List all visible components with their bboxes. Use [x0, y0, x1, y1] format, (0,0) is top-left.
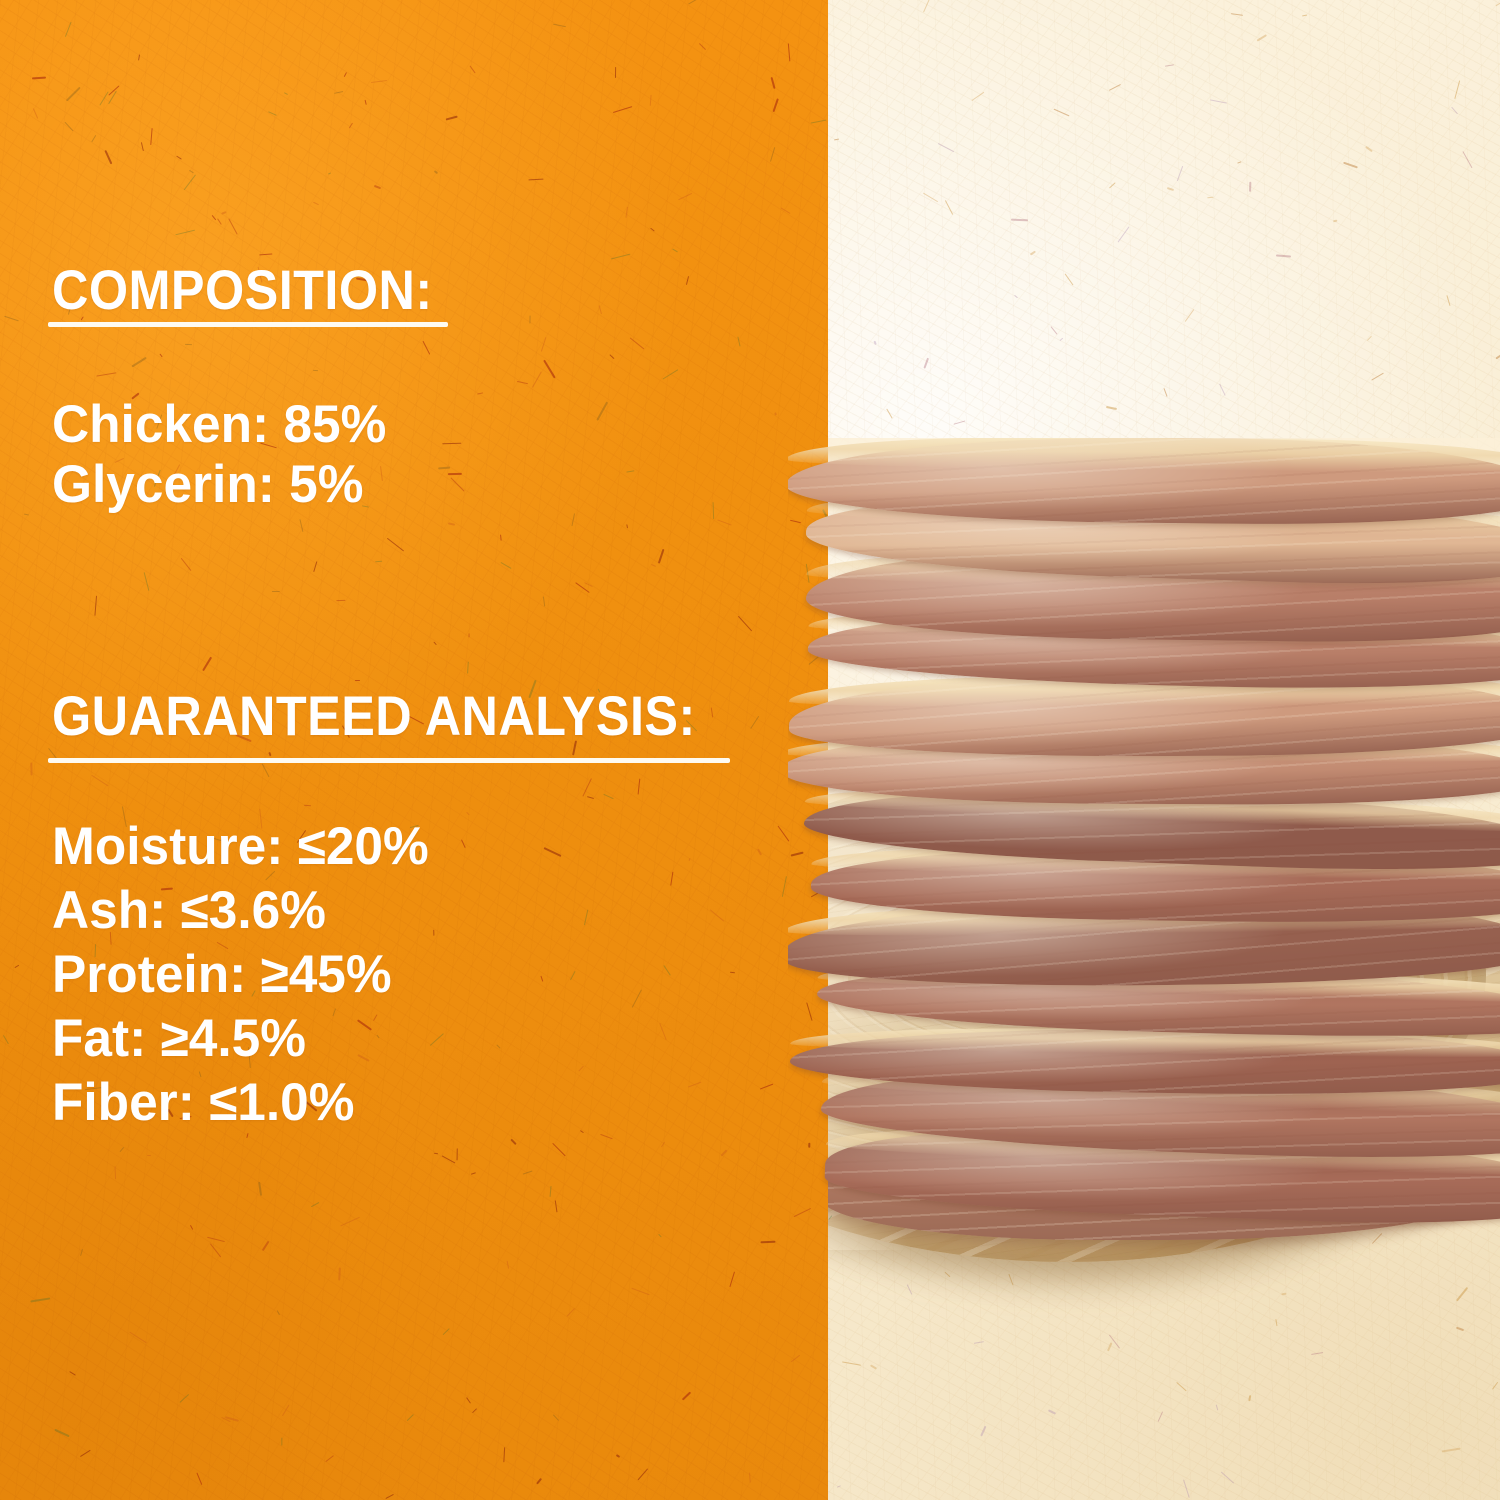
guaranteed-analysis-underline	[48, 758, 730, 763]
text-layer: COMPOSITION: Chicken: 85% Glycerin: 5% G…	[0, 0, 828, 1500]
analysis-item-protein: Protein: ≥45%	[52, 948, 392, 1001]
guaranteed-analysis-heading: GUARANTEED ANALYSIS:	[52, 688, 696, 744]
analysis-item-moisture: Moisture: ≤20%	[52, 820, 429, 873]
product-infographic: COMPOSITION: Chicken: 85% Glycerin: 5% G…	[0, 0, 1500, 1500]
analysis-item-fat: Fat: ≥4.5%	[52, 1012, 306, 1065]
composition-item-glycerin: Glycerin: 5%	[52, 458, 363, 511]
analysis-item-ash: Ash: ≤3.6%	[52, 884, 326, 937]
analysis-item-fiber: Fiber: ≤1.0%	[52, 1076, 354, 1129]
composition-heading: COMPOSITION:	[52, 262, 433, 318]
composition-item-chicken: Chicken: 85%	[52, 398, 386, 451]
chicken-jerky-stack	[788, 438, 1500, 1250]
composition-underline	[48, 322, 448, 327]
